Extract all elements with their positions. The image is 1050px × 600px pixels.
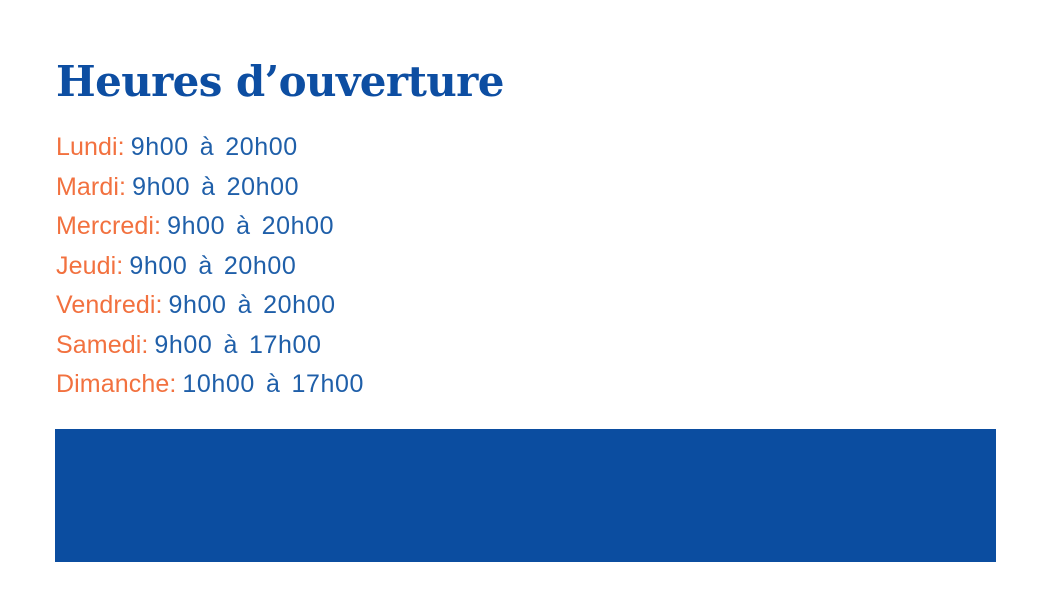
day-close-time: 20h00 bbox=[225, 133, 298, 161]
media-placeholder-block bbox=[55, 429, 996, 562]
opening-hours-list: Lundi:9h00à20h00 Mardi:9h00à20h00 Mercre… bbox=[56, 132, 756, 409]
day-label: Dimanche: bbox=[56, 370, 176, 398]
slide-canvas: Heures d’ouverture Lundi:9h00à20h00 Mard… bbox=[0, 0, 1050, 600]
day-close-time: 20h00 bbox=[227, 173, 300, 201]
range-separator: à bbox=[196, 172, 221, 202]
range-separator: à bbox=[195, 132, 220, 162]
day-label: Lundi: bbox=[56, 133, 125, 161]
day-label: Mercredi: bbox=[56, 212, 161, 240]
day-open-time: 9h00 bbox=[129, 252, 187, 280]
range-separator: à bbox=[233, 290, 258, 320]
day-open-time: 9h00 bbox=[167, 212, 225, 240]
day-open-time: 9h00 bbox=[132, 173, 190, 201]
day-open-time: 9h00 bbox=[154, 331, 212, 359]
day-open-time: 9h00 bbox=[131, 133, 189, 161]
day-label: Vendredi: bbox=[56, 291, 163, 319]
list-item: Dimanche:10h00à17h00 bbox=[56, 369, 756, 409]
list-item: Jeudi:9h00à20h00 bbox=[56, 251, 756, 291]
day-open-time: 10h00 bbox=[182, 370, 255, 398]
list-item: Samedi:9h00à17h00 bbox=[56, 330, 756, 370]
range-separator: à bbox=[218, 330, 243, 360]
list-item: Mercredi:9h00à20h00 bbox=[56, 211, 756, 251]
list-item: Vendredi:9h00à20h00 bbox=[56, 290, 756, 330]
day-label: Mardi: bbox=[56, 173, 126, 201]
range-separator: à bbox=[193, 251, 218, 281]
range-separator: à bbox=[231, 211, 256, 241]
list-item: Mardi:9h00à20h00 bbox=[56, 172, 756, 212]
day-close-time: 20h00 bbox=[263, 291, 336, 319]
day-close-time: 20h00 bbox=[224, 252, 297, 280]
day-label: Jeudi: bbox=[56, 252, 123, 280]
day-close-time: 17h00 bbox=[249, 331, 322, 359]
page-title: Heures d’ouverture bbox=[56, 58, 504, 106]
day-open-time: 9h00 bbox=[169, 291, 227, 319]
list-item: Lundi:9h00à20h00 bbox=[56, 132, 756, 172]
day-close-time: 20h00 bbox=[262, 212, 335, 240]
range-separator: à bbox=[261, 369, 286, 399]
day-close-time: 17h00 bbox=[291, 370, 364, 398]
day-label: Samedi: bbox=[56, 331, 148, 359]
